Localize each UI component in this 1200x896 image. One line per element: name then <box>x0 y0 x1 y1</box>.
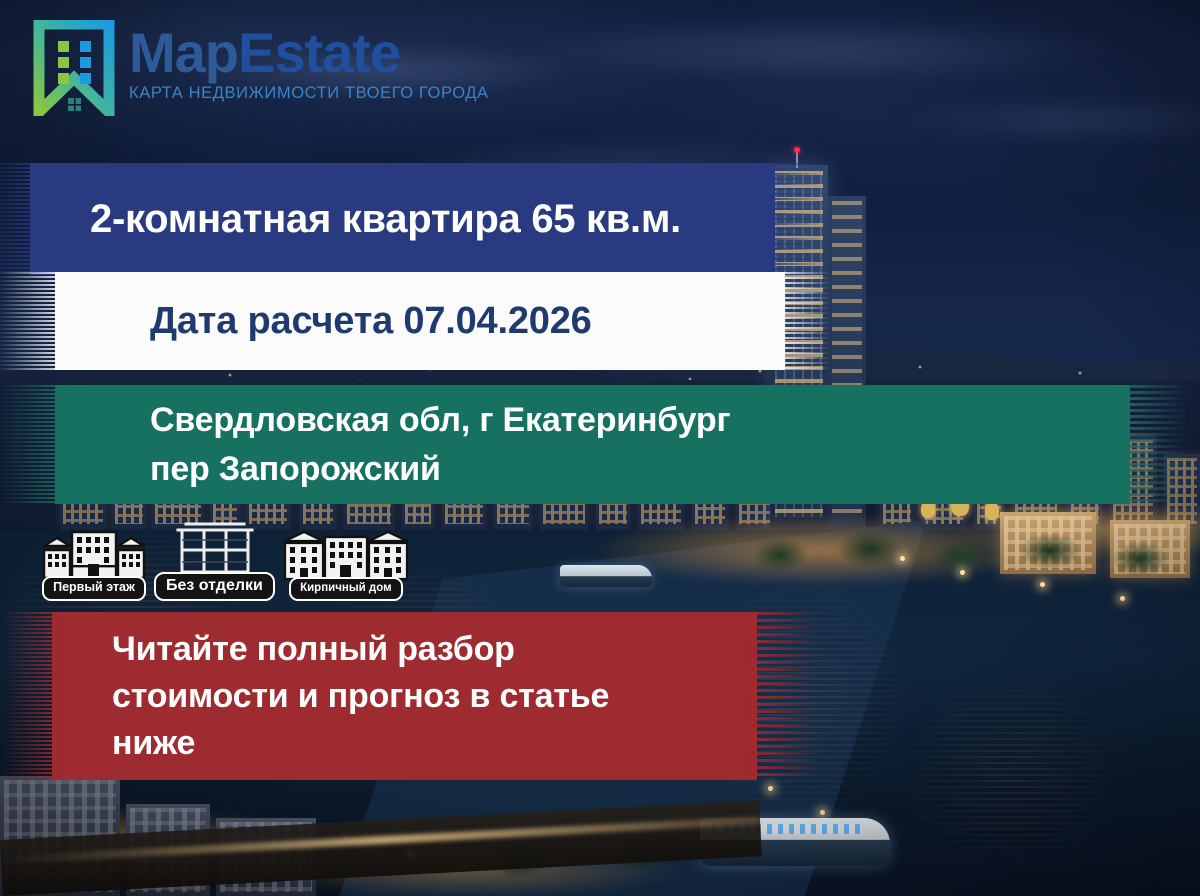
brand-name-estate: Estate <box>238 21 400 84</box>
cta-banner: Читайте полный разбор стоимости и прогно… <box>52 612 757 780</box>
river-boat-upper <box>560 565 652 587</box>
cta-line-1: Читайте полный разбор <box>112 626 757 672</box>
feature-item-no-finishing[interactable]: Без отделки <box>154 516 275 601</box>
address-line-1: Свердловская обл, г Екатеринбург <box>150 399 1130 442</box>
property-banner: 2-комнатная квартира 65 кв.м. <box>30 163 775 275</box>
address-banner: Свердловская обл, г Екатеринбург пер Зап… <box>55 385 1130 504</box>
brand-name-map: Map <box>129 21 238 84</box>
bookmark-building-icon <box>33 20 115 116</box>
promo-card: MapEstate КАРТА НЕДВИЖИМОСТИ ТВОЕГО ГОРО… <box>0 0 1200 896</box>
cta-line-3: ниже <box>112 720 757 766</box>
feature-item-first-floor[interactable]: Первый этаж <box>40 520 148 601</box>
calculation-date-text: Дата расчета 07.04.2026 <box>150 300 785 343</box>
apartment-building-icon <box>40 520 148 582</box>
feature-label-first-floor: Первый этаж <box>42 576 146 601</box>
brand-text: MapEstate КАРТА НЕДВИЖИМОСТИ ТВОЕГО ГОРО… <box>129 20 489 103</box>
address-line-2: пер Запорожский <box>150 448 1130 491</box>
brand-logo[interactable]: MapEstate КАРТА НЕДВИЖИМОСТИ ТВОЕГО ГОРО… <box>33 20 489 116</box>
cta-line-2: стоимости и прогноз в статье <box>112 673 757 719</box>
feature-item-brick-house[interactable]: Кирпичный дом <box>281 521 411 601</box>
property-title: 2-комнатная квартира 65 кв.м. <box>90 197 775 242</box>
brick-house-icon <box>281 521 411 583</box>
calculation-date-banner: Дата расчета 07.04.2026 <box>55 272 785 370</box>
brand-tagline: КАРТА НЕДВИЖИМОСТИ ТВОЕГО ГОРОДА <box>129 84 489 103</box>
feature-label-no-finishing: Без отделки <box>154 572 275 601</box>
brand-name: MapEstate <box>129 26 489 81</box>
feature-badges: Первый этаж Без отделки <box>40 516 411 601</box>
bare-frame-structure-icon <box>160 516 268 578</box>
feature-label-brick-house: Кирпичный дом <box>289 577 403 601</box>
